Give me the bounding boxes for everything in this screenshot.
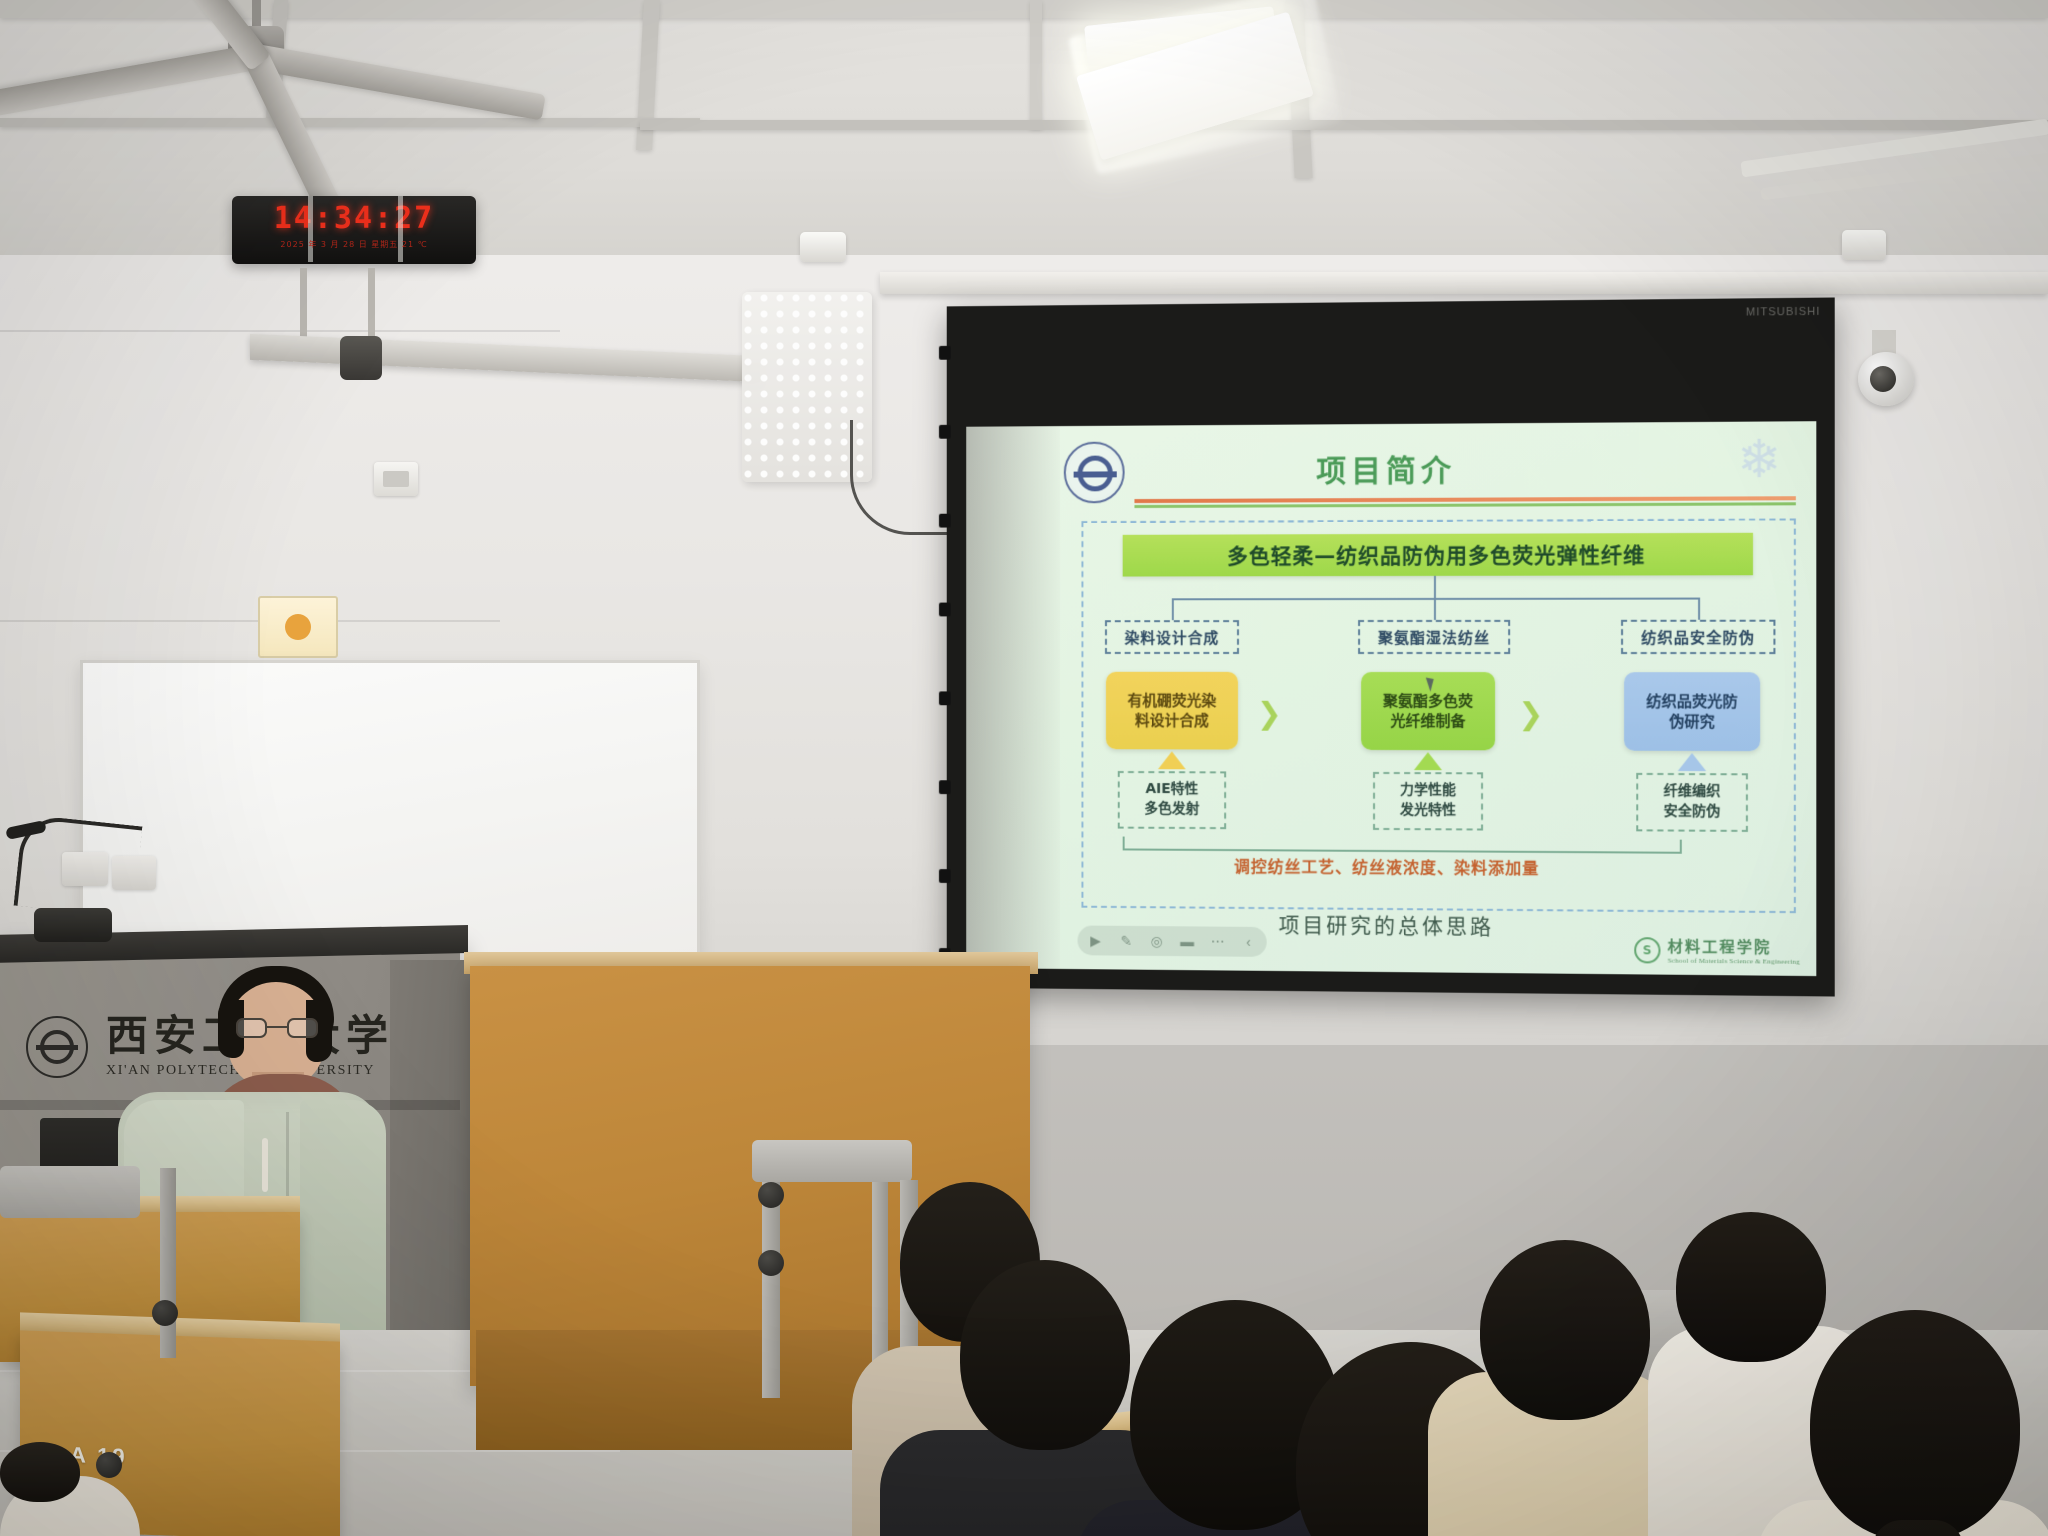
clock-time: 14:34:27 <box>232 202 476 236</box>
university-seal-icon <box>26 1016 88 1078</box>
poster-graphic <box>285 614 311 640</box>
process-box-line: 料设计合成 <box>1135 712 1209 730</box>
motion-sensor <box>1842 230 1886 260</box>
ppt-presenter-toolbar[interactable]: ▶ ✎ ◎ ▬ ⋯ ‹ <box>1078 925 1267 956</box>
wall-notice-poster <box>258 596 338 658</box>
process-box-line: 聚氨酯多色荧 <box>1383 692 1473 710</box>
property-box-line: 纤维编织 <box>1664 784 1721 800</box>
property-box: AIE特性 多色发射 <box>1118 771 1226 829</box>
connector-line <box>1434 598 1436 620</box>
clock-date: 2025 年 3 月 28 日 星期五 21 ℃ <box>232 239 476 250</box>
hoodie-drawstring <box>262 1138 268 1192</box>
chevron-right-icon: ❯ <box>1518 700 1543 730</box>
property-box-line: AIE特性 <box>1145 781 1198 797</box>
led-wall-clock: 14:34:27 2025 年 3 月 28 日 星期五 21 ℃ <box>232 196 476 264</box>
pen-icon[interactable]: ✎ <box>1118 932 1135 949</box>
department-name-en: School of Materials Science & Engineerin… <box>1668 957 1800 966</box>
title-divider-green <box>1134 502 1795 508</box>
wall-power-outlet[interactable] <box>374 462 418 496</box>
projection-screen: MITSUBISHI 项目简介 ❄ 多色轻柔—纺织品防伪用多色荧光弹性纤维 <box>947 297 1835 996</box>
chair-backrest <box>752 1140 912 1182</box>
stage-label: 聚氨酯湿法纺丝 <box>1358 620 1510 654</box>
stage-label: 染料设计合成 <box>1105 620 1239 654</box>
process-box: 有机硼荧光染 料设计合成 <box>1106 672 1238 750</box>
snowflake-icon: ❄ <box>1731 434 1788 491</box>
ceiling-beam <box>0 0 2048 18</box>
property-box: 力学性能 发光特性 <box>1373 772 1483 831</box>
property-box-line: 发光特性 <box>1400 802 1456 818</box>
property-box: 纤维编织 安全防伪 <box>1636 773 1748 832</box>
desk-knob <box>758 1250 784 1276</box>
process-box-line: 光纤维制备 <box>1390 712 1465 730</box>
screen-brand-label: MITSUBISHI <box>1746 306 1820 319</box>
wall-seam <box>0 330 560 332</box>
triangle-connector-icon <box>1158 751 1186 769</box>
department-logo: S 材料工程学院 School of Materials Science & E… <box>1634 935 1800 966</box>
connector-line <box>1172 598 1174 620</box>
desk-knob <box>152 1300 178 1326</box>
projector-screen-rail <box>880 272 2048 294</box>
ceiling-beam <box>1030 0 1042 128</box>
process-box: 纺织品荧光防 伪研究 <box>1624 672 1760 751</box>
presenter-view-icon[interactable]: ▬ <box>1179 933 1196 950</box>
motion-sensor <box>800 232 846 262</box>
play-icon[interactable]: ▶ <box>1087 932 1104 949</box>
screen-edge-tabs <box>939 306 949 987</box>
more-options-icon[interactable]: ⋯ <box>1209 933 1226 950</box>
department-name-cn: 材料工程学院 <box>1668 935 1800 957</box>
connector-line <box>1434 576 1436 598</box>
triangle-connector-icon <box>1678 753 1706 771</box>
chair-backrest <box>0 1166 140 1218</box>
chevron-right-icon: ❯ <box>1257 700 1282 730</box>
triangle-connector-icon <box>1414 752 1442 770</box>
chair-support-post <box>160 1168 176 1358</box>
lecture-hall-photo: 14:34:27 2025 年 3 月 28 日 星期五 21 ℃ MITSUB… <box>0 0 2048 1536</box>
slide-banner: 多色轻柔—纺织品防伪用多色荧光弹性纤维 <box>1123 533 1753 577</box>
laser-pointer-icon[interactable]: ◎ <box>1148 933 1165 950</box>
process-box-line: 伪研究 <box>1669 713 1715 731</box>
ceiling-speaker <box>340 336 382 380</box>
property-box-line: 安全防伪 <box>1664 803 1721 819</box>
ceiling-beam <box>640 120 2048 130</box>
previous-slide-icon[interactable]: ‹ <box>1240 933 1257 950</box>
desk-knob <box>758 1182 784 1208</box>
ceiling-beam <box>0 118 700 127</box>
property-box-line: 多色发射 <box>1144 801 1199 817</box>
department-mark-icon: S <box>1634 937 1660 963</box>
slide-title: 项目简介 <box>966 443 1816 491</box>
stage-label: 纺织品安全防伪 <box>1621 620 1775 654</box>
security-camera-icon <box>1858 352 1914 406</box>
screen-edge-shadow <box>966 426 1060 969</box>
process-box-line: 纺织品荧光防 <box>1646 692 1737 710</box>
property-box-line: 力学性能 <box>1400 782 1456 798</box>
wall-seam <box>0 620 500 622</box>
glasses-icon <box>236 1018 318 1038</box>
desk-knob <box>96 1452 122 1478</box>
process-box-line: 有机硼荧光染 <box>1128 691 1217 709</box>
presentation-slide: 项目简介 ❄ 多色轻柔—纺织品防伪用多色荧光弹性纤维 染料设计合成 聚氨酯湿法纺… <box>966 421 1816 976</box>
connector-line <box>1698 598 1700 620</box>
